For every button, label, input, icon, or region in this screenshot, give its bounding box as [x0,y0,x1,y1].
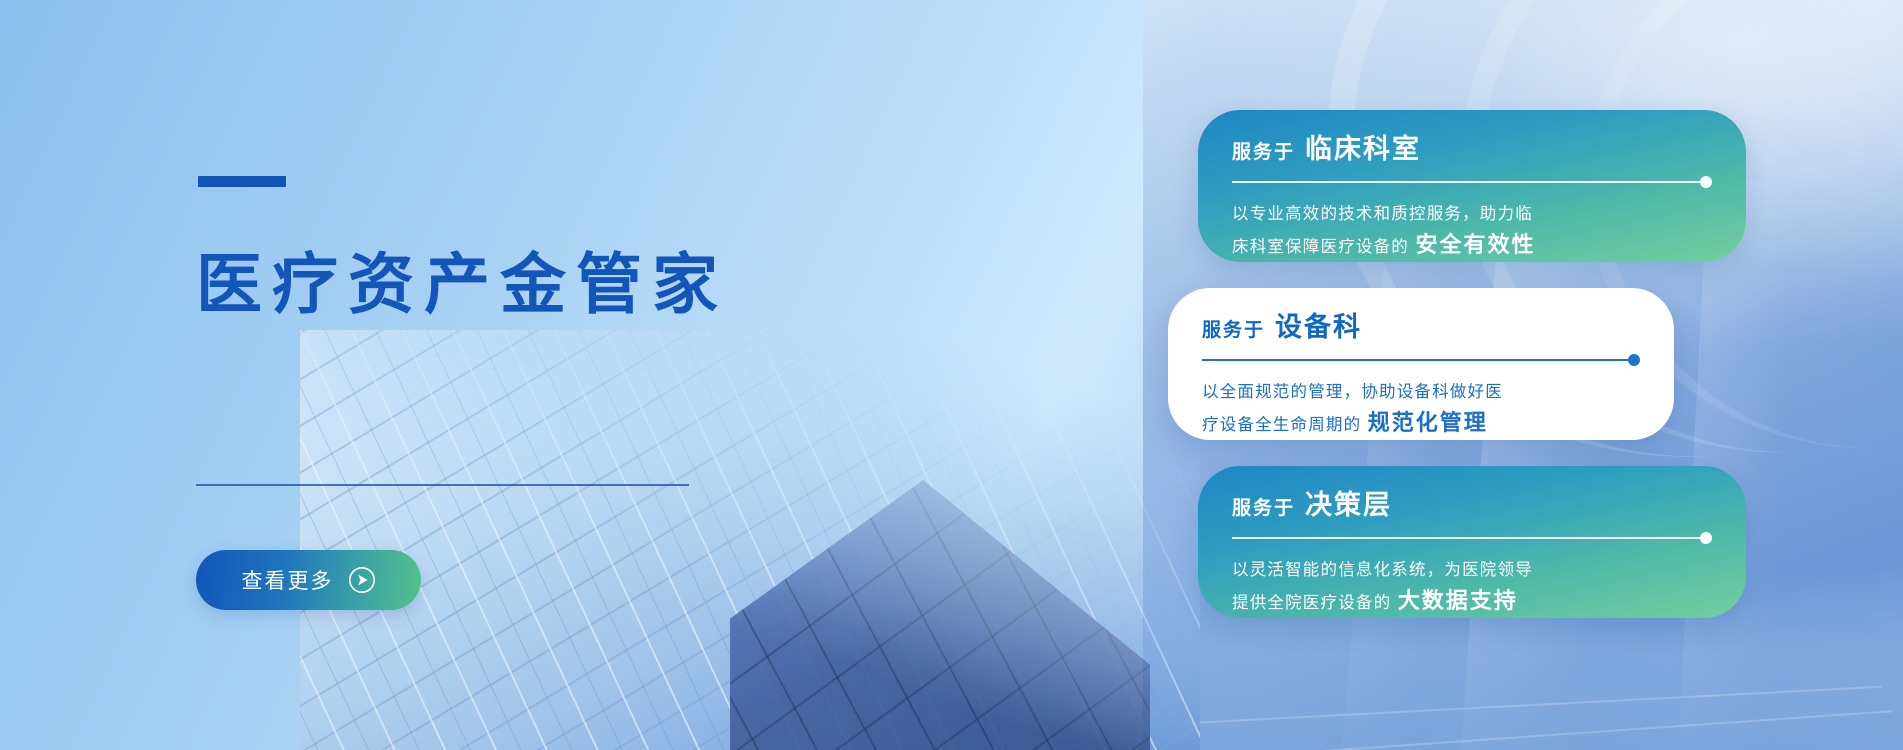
banner-stage: 医疗资产金管家 查看更多 服务于 临床科室 以专业高效的技术和质控服务，助力临 … [0,0,1903,750]
card-body: 以专业高效的技术和质控服务，助力临 床科室保障医疗设备的 安全有效性 [1232,201,1712,263]
view-more-button[interactable]: 查看更多 [196,550,421,610]
card-body-highlight: 大数据支持 [1398,589,1518,614]
rule-line [1232,537,1700,539]
card-prefix: 服务于 [1232,499,1295,518]
card-body-line1: 以全面规范的管理，协助设备科做好医 [1202,379,1640,406]
card-prefix: 服务于 [1232,143,1295,162]
card-body-line2: 床科室保障医疗设备的 安全有效性 [1232,228,1712,264]
card-title: 临床科室 [1305,136,1421,163]
rule-dot [1700,532,1712,544]
page-title: 医疗资产金管家 [196,250,728,320]
card-body-line2-normal: 疗设备全生命周期的 [1202,415,1361,434]
card-body-line2-normal: 提供全院医疗设备的 [1232,593,1391,612]
card-body-highlight: 安全有效性 [1415,233,1535,258]
rule-line [1202,359,1628,361]
card-rule [1202,354,1640,366]
card-body-line2-normal: 床科室保障医疗设备的 [1232,237,1409,256]
rule-dot [1700,176,1712,188]
card-body: 以全面规范的管理，协助设备科做好医 疗设备全生命周期的 规范化管理 [1202,379,1640,441]
accent-bar [198,176,286,187]
floor-line-2 [1154,710,1892,750]
card-body-line2: 提供全院医疗设备的 大数据支持 [1232,584,1712,620]
card-prefix: 服务于 [1202,321,1265,340]
card-body-line2: 疗设备全生命周期的 规范化管理 [1202,406,1640,442]
service-card-decision[interactable]: 服务于 决策层 以灵活智能的信息化系统，为医院领导 提供全院医疗设备的 大数据支… [1198,466,1746,618]
card-header: 服务于 临床科室 [1232,136,1712,163]
card-header: 服务于 决策层 [1232,492,1712,519]
card-body-line1: 以灵活智能的信息化系统，为医院领导 [1232,557,1712,584]
card-rule [1232,176,1712,188]
card-title: 决策层 [1305,492,1392,519]
card-body: 以灵活智能的信息化系统，为医院领导 提供全院医疗设备的 大数据支持 [1232,557,1712,619]
card-header: 服务于 设备科 [1202,314,1640,341]
service-card-clinical[interactable]: 服务于 临床科室 以专业高效的技术和质控服务，助力临 床科室保障医疗设备的 安全… [1198,110,1746,262]
card-rule [1232,532,1712,544]
divider [196,484,689,486]
card-body-highlight: 规范化管理 [1368,411,1488,436]
view-more-label: 查看更多 [242,565,334,595]
glass-building-photo [300,330,1200,750]
rule-line [1232,181,1700,183]
service-card-equipment[interactable]: 服务于 设备科 以全面规范的管理，协助设备科做好医 疗设备全生命周期的 规范化管… [1168,288,1674,440]
card-title: 设备科 [1275,314,1362,341]
rule-dot [1628,354,1640,366]
circle-arrow-right-icon [348,566,376,594]
building-haze [300,330,1200,750]
card-body-line1: 以专业高效的技术和质控服务，助力临 [1232,201,1712,228]
